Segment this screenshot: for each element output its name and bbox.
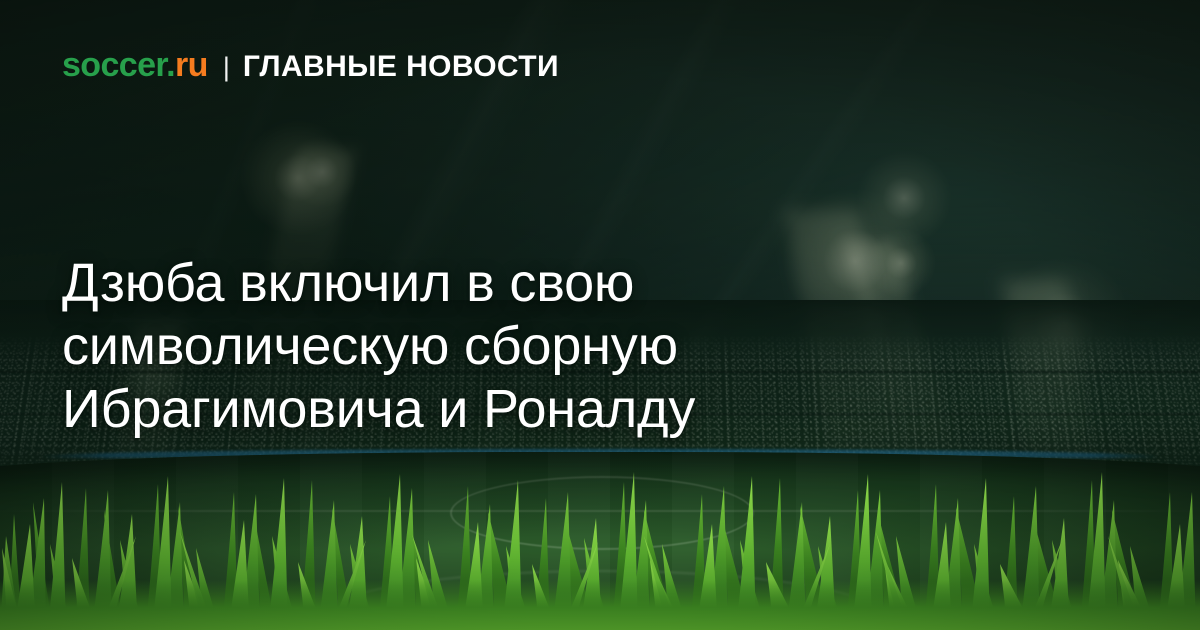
site-logo[interactable]: soccer.ru (62, 48, 208, 82)
headline: Дзюба включил в свою символическую сборн… (62, 252, 882, 441)
card-content: soccer.ru | ГЛАВНЫЕ НОВОСТИ Дзюба включи… (0, 0, 1200, 630)
share-card: soccer.ru | ГЛАВНЫЕ НОВОСТИ Дзюба включи… (0, 0, 1200, 630)
brand-separator: | (223, 54, 230, 81)
brand-bar: soccer.ru | ГЛАВНЫЕ НОВОСТИ (62, 48, 559, 82)
headline-line-3: Ибрагимовича и Роналду (62, 378, 882, 441)
logo-tld: ru (175, 46, 208, 84)
logo-dot: . (166, 46, 175, 84)
headline-line-2: символическую сборную (62, 315, 882, 378)
kicker-label: ГЛАВНЫЕ НОВОСТИ (243, 52, 559, 82)
headline-line-1: Дзюба включил в свою (62, 252, 882, 315)
logo-word: soccer (62, 46, 166, 84)
